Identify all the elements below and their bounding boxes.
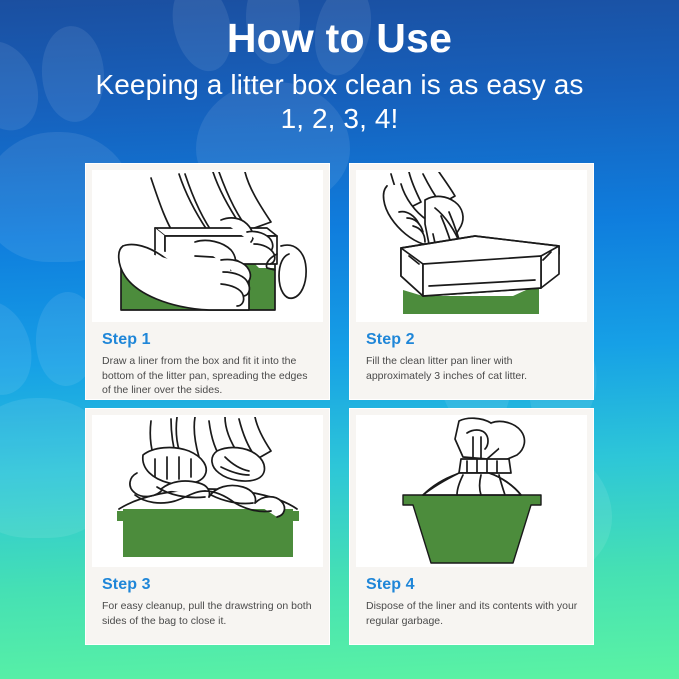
page-subtitle: Keeping a litter box clean is as easy as… — [0, 62, 679, 136]
how-to-use-infographic: How to Use Keeping a litter box clean is… — [0, 0, 679, 679]
step-card-1: Step 1 Draw a liner from the box and fit… — [85, 163, 330, 400]
step-3-illustration — [92, 415, 323, 567]
step-card-2: Step 2 Fill the clean litter pan liner w… — [349, 163, 594, 400]
step-2-illustration — [356, 170, 587, 322]
step-3-title: Step 3 — [102, 575, 315, 594]
step-1-title: Step 1 — [102, 330, 315, 349]
page-subtitle-line2: 1, 2, 3, 4! — [0, 102, 679, 136]
step-1-text: Draw a liner from the box and fit it int… — [102, 354, 315, 398]
step-2-body: Step 2 Fill the clean litter pan liner w… — [350, 322, 593, 383]
header: How to Use Keeping a litter box clean is… — [0, 0, 679, 136]
step-3-text: For easy cleanup, pull the drawstring on… — [102, 599, 315, 628]
step-2-text: Fill the clean litter pan liner with app… — [366, 354, 579, 383]
step-4-text: Dispose of the liner and its contents wi… — [366, 599, 579, 628]
step-3-body: Step 3 For easy cleanup, pull the drawst… — [86, 567, 329, 628]
step-card-4: Step 4 Dispose of the liner and its cont… — [349, 408, 594, 645]
step-1-body: Step 1 Draw a liner from the box and fit… — [86, 322, 329, 398]
step-2-title: Step 2 — [366, 330, 579, 349]
step-4-body: Step 4 Dispose of the liner and its cont… — [350, 567, 593, 628]
page-subtitle-line1: Keeping a litter box clean is as easy as — [95, 69, 583, 100]
steps-grid: Step 1 Draw a liner from the box and fit… — [85, 163, 594, 645]
step-4-title: Step 4 — [366, 575, 579, 594]
step-1-illustration — [92, 170, 323, 322]
step-4-illustration — [356, 415, 587, 567]
step-card-3: Step 3 For easy cleanup, pull the drawst… — [85, 408, 330, 645]
page-title: How to Use — [0, 0, 679, 62]
